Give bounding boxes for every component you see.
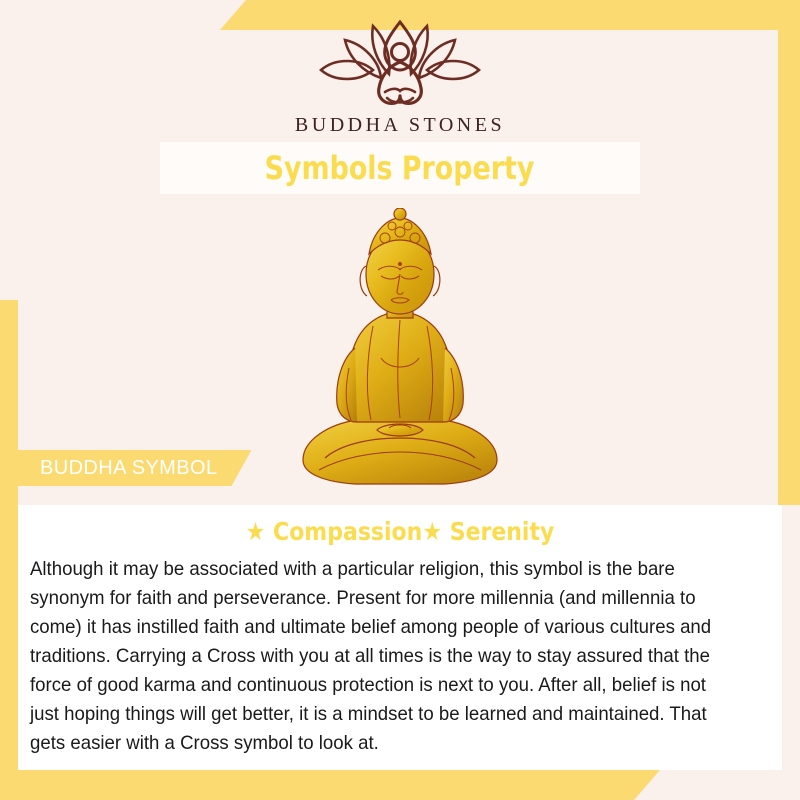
brand-logo: BUDDHA STONES: [0, 18, 800, 137]
lotus-meditation-icon: [315, 18, 485, 110]
page-title: Symbols Property: [265, 149, 535, 187]
category-tag-label: BUDDHA SYMBOL: [40, 457, 217, 480]
golden-buddha-statue: [285, 208, 515, 498]
frame-bottom-accent: [0, 770, 660, 800]
brand-name: BUDDHA STONES: [0, 114, 800, 137]
section-subheading: ★ Compassion★ Serenity: [64, 517, 736, 546]
content-panel: ★ Compassion★ Serenity Although it may b…: [18, 505, 782, 770]
category-tag: BUDDHA SYMBOL: [18, 450, 251, 486]
poster-canvas: BUDDHA STONES Symbols Property: [0, 0, 800, 800]
article-body: Although it may be associated with a par…: [30, 555, 737, 758]
title-banner: Symbols Property: [160, 142, 640, 194]
